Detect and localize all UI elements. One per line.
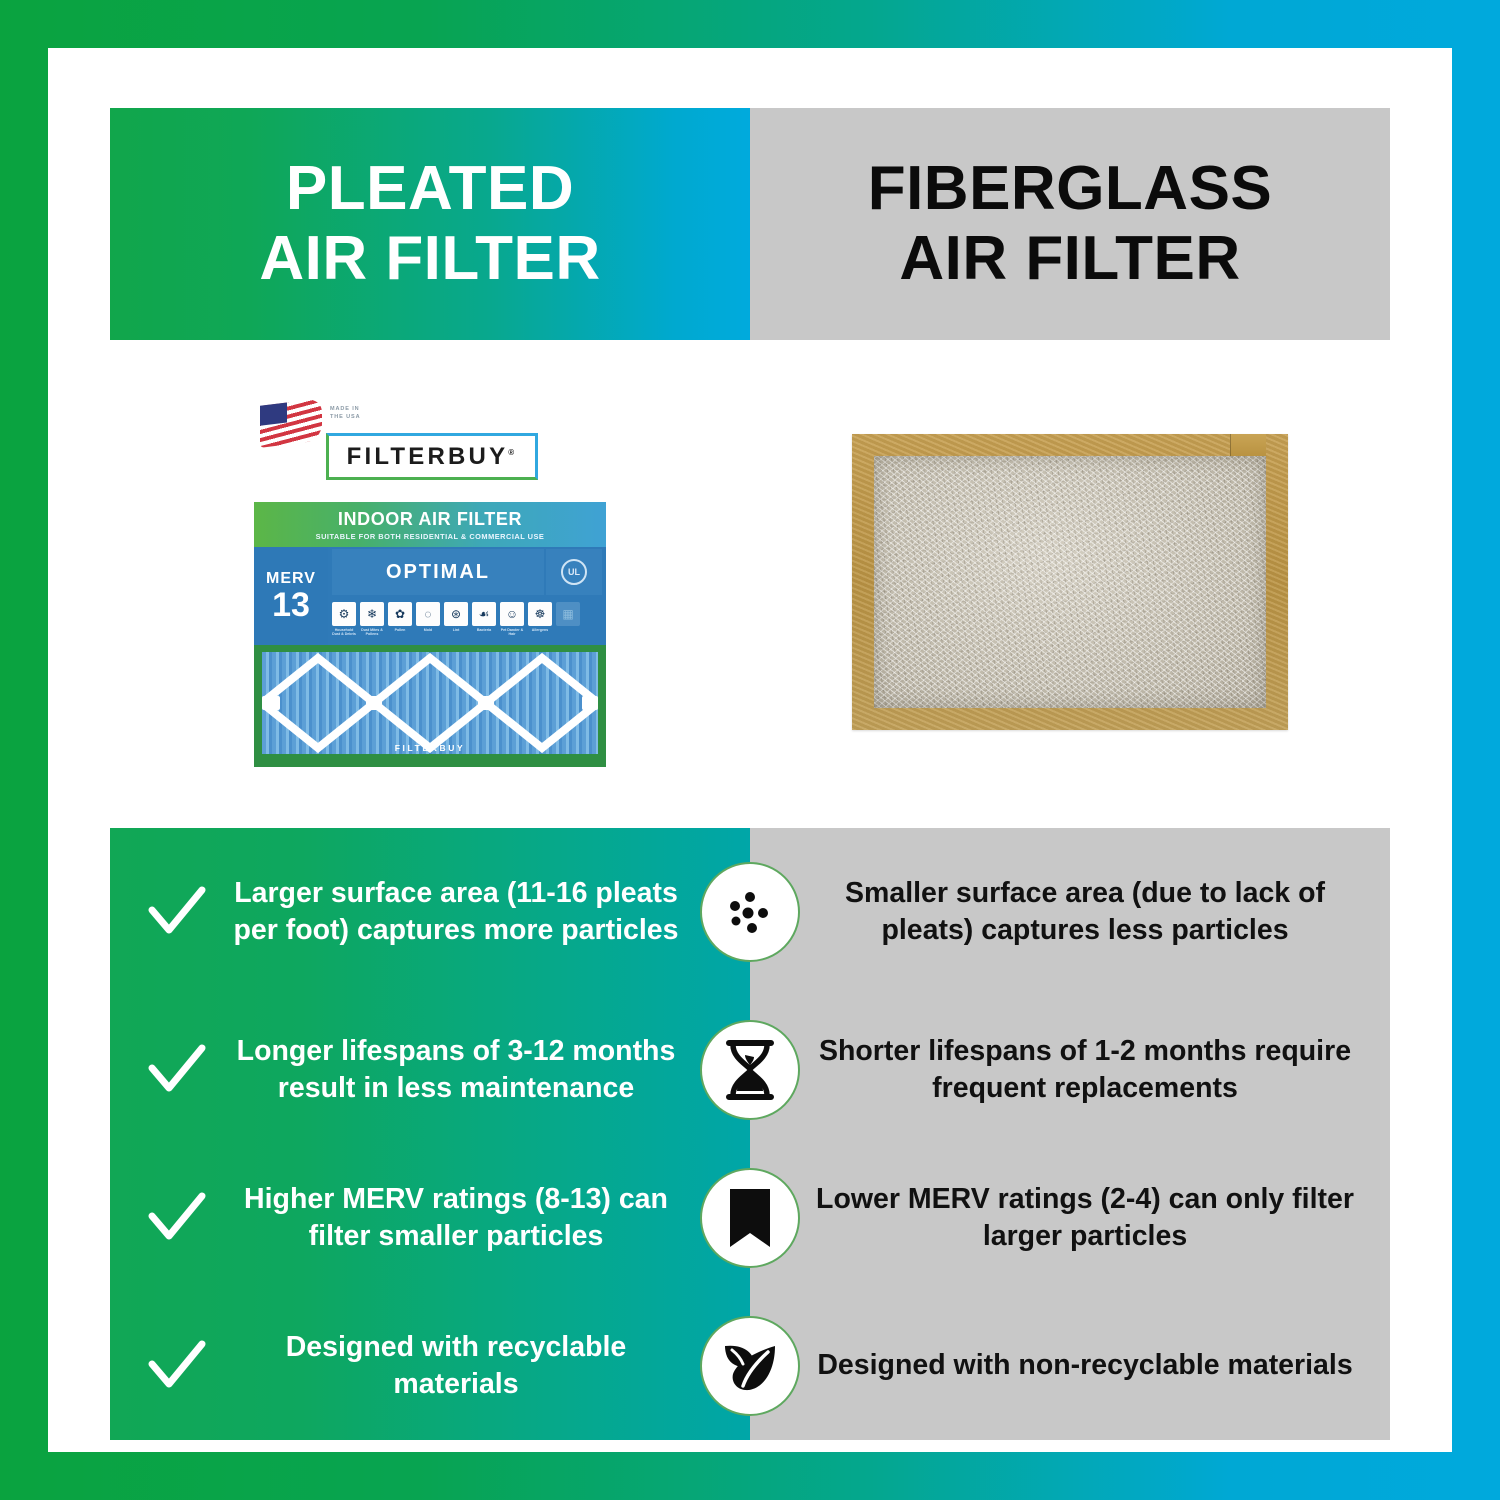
row-2-pleated: Longer lifespans of 3-12 months result i… [110, 1033, 750, 1107]
row-1-fiberglass-text: Smaller surface area (due to lack of ple… [750, 875, 1390, 949]
row-2-fiberglass-text: Shorter lifespans of 1-2 months require … [750, 1033, 1390, 1107]
pet-dander-icon: ☺ [500, 602, 524, 626]
made-in-usa-text: MADE IN THE USA [330, 406, 360, 422]
feature-caption-2: Pollen [388, 628, 412, 632]
checkmark-icon [144, 880, 208, 944]
feature-caption-0: Household Dust & Debris [332, 628, 356, 637]
checkmark-icon [144, 1186, 208, 1250]
tier-label: OPTIMAL [332, 549, 544, 595]
pleated-filter-product-image: MADE IN THE USA FILTERBUY® INDOOR AIR FI… [254, 397, 606, 767]
frame-corner-seam [1230, 434, 1266, 458]
hourglass-icon [721, 1039, 779, 1101]
feature-icon-7: ☸Allergens [528, 602, 552, 632]
dust-mites-icon: ❄ [360, 602, 384, 626]
pleated-media-area: FILTERBUY [254, 645, 606, 767]
row-4-pleated: Designed with recyclable materials [110, 1329, 750, 1403]
bookmark-icon-badge [700, 1168, 800, 1268]
indoor-air-filter-banner: INDOOR AIR FILTER SUITABLE FOR BOTH RESI… [254, 502, 606, 547]
header-pleated-title: PLEATED AIR FILTER [259, 154, 600, 294]
made-in-line2: THE USA [330, 414, 360, 422]
merv-value: 13 [272, 588, 310, 622]
row-3-fiberglass-text: Lower MERV ratings (2-4) can only filter… [750, 1181, 1390, 1255]
row-3-pleated: Higher MERV ratings (8-13) can filter sm… [110, 1181, 750, 1255]
particles-icon [720, 882, 780, 942]
particles-icon-badge [700, 862, 800, 962]
checkmark-icon [144, 1038, 208, 1102]
leaf-icon-badge [700, 1316, 800, 1416]
mold-icon: ◌ [416, 602, 440, 626]
feature-caption-5: Bacteria [472, 628, 496, 632]
row-2-pleated-text: Longer lifespans of 3-12 months result i… [222, 1033, 690, 1107]
feature-caption-3: Mold [416, 628, 440, 632]
ul-certification-badge: UL [546, 549, 602, 595]
header-pleated: PLEATED AIR FILTER [110, 108, 750, 340]
trademark-symbol: ® [508, 448, 517, 457]
usa-flag-icon [260, 398, 322, 448]
feature-icon-2: ✿Pollen [388, 602, 412, 632]
feature-icon-6: ☺Pet Dander & Hair [500, 602, 524, 637]
header-band: PLEATED AIR FILTER FIBERGLASS AIR FILTER [110, 108, 1390, 340]
feature-caption-1: Dust Mites & Pollens [360, 628, 384, 637]
fiberglass-product-cell [750, 340, 1390, 824]
lint-icon: ⊛ [444, 602, 468, 626]
fiberglass-media [874, 456, 1266, 708]
header-pleated-line1: PLEATED [259, 154, 600, 224]
feature-icon-1: ❄Dust Mites & Pollens [360, 602, 384, 637]
header-fiberglass-line2: AIR FILTER [868, 224, 1273, 294]
feature-icon-strip: ⚙Household Dust & Debris ❄Dust Mites & P… [332, 599, 602, 643]
row-4-fiberglass-text: Designed with non-recyclable materials [750, 1347, 1390, 1384]
infographic-root: PLEATED AIR FILTER FIBERGLASS AIR FILTER [0, 0, 1500, 1500]
infographic-canvas: PLEATED AIR FILTER FIBERGLASS AIR FILTER [48, 48, 1452, 1452]
feature-icon-5: ☙Bacteria [472, 602, 496, 632]
leaf-icon [719, 1336, 781, 1396]
bacteria-icon: ☙ [472, 602, 496, 626]
fiberglass-filter-product-image [852, 434, 1288, 730]
pollen-icon: ✿ [388, 602, 412, 626]
blue-pleats: FILTERBUY [262, 652, 598, 754]
hourglass-icon-badge [700, 1020, 800, 1120]
media-brand-text: FILTERBUY [262, 743, 598, 753]
banner-subtitle: SUITABLE FOR BOTH RESIDENTIAL & COMMERCI… [316, 532, 545, 541]
ul-mark-icon: UL [561, 559, 587, 585]
feature-icon-8: ▦ [556, 602, 580, 626]
household-dust-icon: ⚙ [332, 602, 356, 626]
feature-icon-3: ◌Mold [416, 602, 440, 632]
checkmark-icon [144, 1334, 208, 1398]
header-fiberglass: FIBERGLASS AIR FILTER [750, 108, 1390, 340]
comparison-rows: Larger surface area (11-16 pleats per fo… [110, 828, 1390, 1440]
wire-support-grid-icon [262, 652, 598, 754]
allergens-icon: ☸ [528, 602, 552, 626]
pleated-product-cell: MADE IN THE USA FILTERBUY® INDOOR AIR FI… [110, 340, 750, 824]
feature-caption-6: Pet Dander & Hair [500, 628, 524, 637]
bookmark-icon [727, 1187, 773, 1249]
row-1-pleated-text: Larger surface area (11-16 pleats per fo… [222, 875, 690, 949]
disabled-feature-icon: ▦ [556, 602, 580, 626]
brand-name: FILTERBUY [347, 443, 509, 470]
header-fiberglass-line1: FIBERGLASS [868, 154, 1273, 224]
feature-icon-0: ⚙Household Dust & Debris [332, 602, 356, 637]
filterbuy-logo-text: FILTERBUY® [347, 443, 518, 471]
header-pleated-line2: AIR FILTER [259, 224, 600, 294]
banner-title: INDOOR AIR FILTER [338, 509, 522, 530]
comparison-panel: Larger surface area (11-16 pleats per fo… [110, 828, 1390, 1440]
feature-caption-4: Lint [444, 628, 468, 632]
product-image-row: MADE IN THE USA FILTERBUY® INDOOR AIR FI… [110, 340, 1390, 824]
row-4-pleated-text: Designed with recyclable materials [222, 1329, 690, 1403]
row-3-pleated-text: Higher MERV ratings (8-13) can filter sm… [222, 1181, 690, 1255]
feature-icon-4: ⊛Lint [444, 602, 468, 632]
made-in-line1: MADE IN [330, 406, 360, 414]
pleated-label-top: MADE IN THE USA FILTERBUY® [254, 397, 606, 502]
merv-rating-block: MERV 13 [254, 547, 328, 645]
row-1-pleated: Larger surface area (11-16 pleats per fo… [110, 875, 750, 949]
filterbuy-logo: FILTERBUY® [326, 433, 538, 480]
header-fiberglass-title: FIBERGLASS AIR FILTER [868, 154, 1273, 294]
merv-info-band: MERV 13 OPTIMAL UL ⚙Household Dust & Deb… [254, 547, 606, 645]
feature-caption-7: Allergens [528, 628, 552, 632]
